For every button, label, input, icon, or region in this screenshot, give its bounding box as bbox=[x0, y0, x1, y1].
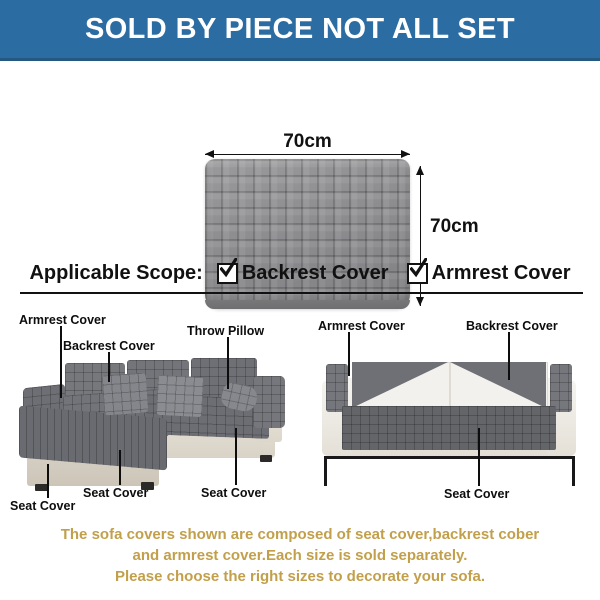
product-infographic: SOLD BY PIECE NOT ALL SET 70cm 70cm Appl… bbox=[0, 0, 600, 600]
checkbox-checked-icon[interactable] bbox=[217, 263, 238, 284]
leader-line bbox=[348, 332, 350, 376]
notice-line-1: The sofa covers shown are composed of se… bbox=[0, 524, 600, 545]
leader-line bbox=[119, 450, 121, 485]
callout-backrest-cover: Backrest Cover bbox=[63, 339, 155, 353]
scope-option-armrest[interactable]: Armrest Cover bbox=[407, 262, 571, 285]
notice-line-2: and armrest cover.Each size is sold sepa… bbox=[0, 545, 600, 566]
callout-armrest-cover: Armrest Cover bbox=[19, 313, 106, 327]
section-divider bbox=[20, 292, 583, 294]
sofa-diagrams-section: Armrest Cover Backrest Cover Throw Pillo… bbox=[0, 300, 600, 522]
callout-backrest-cover: Backrest Cover bbox=[466, 319, 558, 333]
callout-seat-cover: Seat Cover bbox=[201, 486, 266, 500]
scope-option-label: Armrest Cover bbox=[432, 262, 571, 285]
armrest-cover-piece bbox=[326, 364, 348, 412]
backrest-cover-triangle bbox=[352, 362, 448, 408]
callout-seat-cover: Seat Cover bbox=[444, 487, 509, 501]
scope-option-backrest[interactable]: Backrest Cover bbox=[217, 262, 389, 285]
throw-pillow bbox=[156, 375, 204, 417]
sofa-leg-rail bbox=[324, 456, 575, 459]
height-dimension-label: 70cm bbox=[430, 216, 479, 238]
leader-line bbox=[60, 326, 62, 398]
banner-title: SOLD BY PIECE NOT ALL SET bbox=[85, 13, 515, 46]
check-mark-icon bbox=[220, 258, 237, 278]
straight-sofa-diagram: Armrest Cover Backrest Cover Seat Cover bbox=[300, 300, 598, 522]
notice-line-3: Please choose the right sizes to decorat… bbox=[0, 566, 600, 587]
header-banner: SOLD BY PIECE NOT ALL SET bbox=[0, 0, 600, 61]
backrest-cover-triangle bbox=[450, 362, 546, 408]
applicable-scope-label: Applicable Scope: bbox=[29, 262, 202, 285]
scope-option-label: Backrest Cover bbox=[242, 262, 389, 285]
leader-line bbox=[47, 464, 49, 498]
check-mark-icon bbox=[410, 258, 427, 278]
leader-line bbox=[478, 428, 480, 486]
checkbox-checked-icon[interactable] bbox=[407, 263, 428, 284]
leader-line bbox=[235, 428, 237, 485]
sofa-leg bbox=[324, 456, 327, 486]
callout-armrest-cover: Armrest Cover bbox=[318, 319, 405, 333]
bottom-notice: The sofa covers shown are composed of se… bbox=[0, 524, 600, 587]
callout-throw-pillow: Throw Pillow bbox=[187, 324, 264, 338]
width-dimension-label: 70cm bbox=[283, 131, 332, 152]
dimension-section: 70cm 70cm bbox=[0, 61, 600, 251]
sofa-leg bbox=[572, 456, 575, 486]
sectional-sofa-diagram: Armrest Cover Backrest Cover Throw Pillo… bbox=[5, 300, 300, 522]
callout-seat-cover: Seat Cover bbox=[83, 486, 148, 500]
leader-line bbox=[227, 337, 229, 389]
callout-seat-cover: Seat Cover bbox=[10, 499, 75, 513]
leader-line bbox=[508, 332, 510, 380]
width-dimension-arrow bbox=[205, 154, 410, 155]
armrest-cover-piece bbox=[550, 364, 572, 412]
leader-line bbox=[108, 352, 110, 382]
sofa-foot bbox=[260, 455, 272, 462]
seat-cover-piece bbox=[342, 406, 556, 450]
applicable-scope-row: Applicable Scope: Backrest Cover Armrest… bbox=[0, 258, 600, 288]
armrest-cover-piece bbox=[253, 376, 285, 428]
